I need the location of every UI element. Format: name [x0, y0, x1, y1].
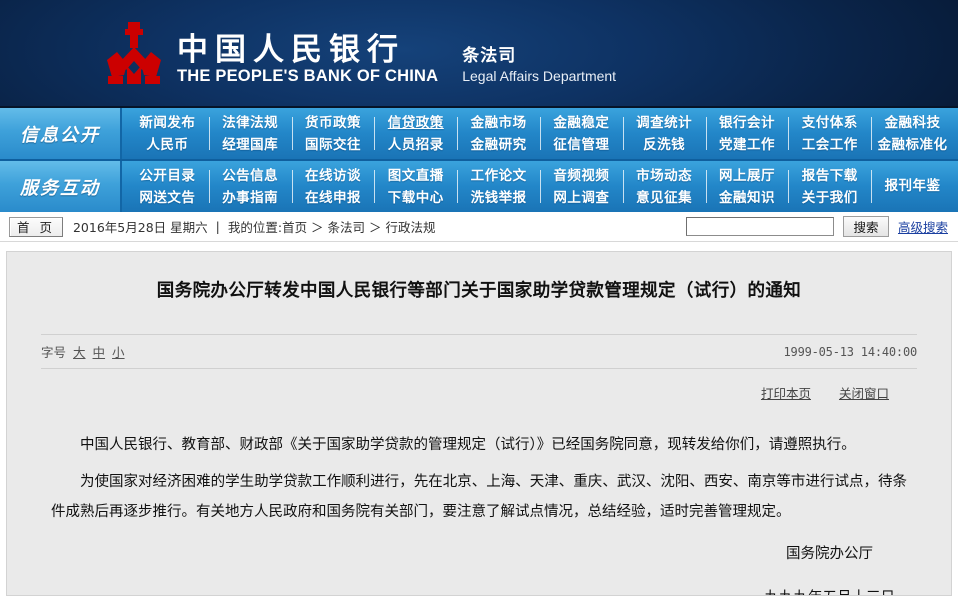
nav-item-report-download[interactable]: 报告下载	[802, 166, 858, 186]
nav-item-payment-system[interactable]: 支付体系	[802, 113, 858, 133]
nav-item-about-us[interactable]: 关于我们	[802, 188, 858, 208]
nav-columns-information-disclosure: 新闻发布 人民币 法律法规 经理国库 货币政策 国际交往 信贷政策 人员招录 金…	[122, 108, 958, 159]
font-size-small[interactable]: 小	[112, 342, 125, 361]
close-window-link[interactable]: 关闭窗口	[839, 383, 889, 402]
body-paragraph: 为使国家对经济困难的学生助学贷款工作顺利进行，先在北京、上海、天津、重庆、武汉、…	[51, 467, 907, 527]
nav-item-online-exhibition[interactable]: 网上展厅	[719, 166, 775, 186]
nav-column: 金融稳定 征信管理	[540, 108, 623, 159]
bank-wordmark: 中国人民银行 THE PEOPLE'S BANK OF CHINA	[177, 33, 438, 88]
nav-column: 银行会计 党建工作	[706, 108, 789, 159]
nav-section-label-information-disclosure[interactable]: 信息公开	[0, 108, 122, 159]
nav-item-financial-research[interactable]: 金融研究	[471, 135, 527, 155]
nav-item-party-affairs[interactable]: 党建工作	[719, 135, 775, 155]
font-size-large[interactable]: 大	[73, 342, 86, 361]
nav-item-open-directory[interactable]: 公开目录	[139, 166, 195, 186]
nav-column: 调查统计 反洗钱	[623, 108, 706, 159]
nav-item-money-laundering-report[interactable]: 洗钱举报	[471, 188, 527, 208]
department-name-cn: 条法司	[462, 45, 616, 67]
nav-column: 网上展厅 金融知识	[706, 161, 789, 212]
nav-columns-services-interaction: 公开目录 网送文告 公告信息 办事指南 在线访谈 在线申报 图文直播 下载中心 …	[122, 161, 958, 212]
search-button[interactable]: 搜索	[843, 216, 889, 237]
nav-item-online-interview[interactable]: 在线访谈	[305, 166, 361, 186]
meta-divider	[41, 368, 917, 369]
nav-item-audio-video[interactable]: 音频视频	[553, 166, 609, 186]
nav-item-service-guide[interactable]: 办事指南	[222, 188, 278, 208]
nav-column: 金融科技 金融标准化	[871, 108, 954, 159]
nav-column: 货币政策 国际交往	[292, 108, 375, 159]
font-size-controls: 字号 大 中 小	[41, 342, 125, 361]
nav-item-online-notices[interactable]: 网送文告	[139, 188, 195, 208]
font-size-medium[interactable]: 中	[93, 342, 106, 361]
content-outer: 国务院办公厅转发中国人民银行等部门关于国家助学贷款管理规定（试行）的通知 字号 …	[0, 242, 958, 596]
nav-column: 音频视频 网上调查	[540, 161, 623, 212]
nav-column: 信贷政策 人员招录	[374, 108, 457, 159]
nav-item-laws-regulations[interactable]: 法律法规	[222, 113, 278, 133]
nav-item-online-survey[interactable]: 网上调查	[553, 188, 609, 208]
search-input[interactable]	[686, 217, 834, 236]
document-panel: 国务院办公厅转发中国人民银行等部门关于国家助学贷款管理规定（试行）的通知 字号 …	[6, 251, 952, 596]
nav-item-credit-reference[interactable]: 征信管理	[553, 135, 609, 155]
bank-name-en: THE PEOPLE'S BANK OF CHINA	[177, 67, 438, 86]
nav-column: 图文直播 下载中心	[374, 161, 457, 212]
nav-item-fintech[interactable]: 金融科技	[885, 113, 941, 133]
nav-item-international-exchange[interactable]: 国际交往	[305, 135, 361, 155]
nav-column: 工作论文 洗钱举报	[457, 161, 540, 212]
nav-item-union-affairs[interactable]: 工会工作	[802, 135, 858, 155]
nav-item-live-broadcast[interactable]: 图文直播	[388, 166, 444, 186]
nav-item-financial-standardization[interactable]: 金融标准化	[878, 135, 948, 155]
nav-item-news[interactable]: 新闻发布	[139, 113, 195, 133]
body-paragraph: 中国人民银行、教育部、财政部《关于国家助学贷款的管理规定（试行）》已经国务院同意…	[51, 430, 907, 460]
breadcrumb-bar: 首 页 2016年5月28日 星期六 | 我的位置:首页 ＞ 条法司 ＞ 行政法…	[0, 212, 958, 242]
document-signature-date: 一九九九年五月十三日	[41, 583, 917, 596]
nav-item-rmb[interactable]: 人民币	[146, 135, 188, 155]
nav-item-financial-knowledge[interactable]: 金融知识	[719, 188, 775, 208]
pboc-trefoil-logo-icon	[105, 20, 163, 88]
document-tools: 打印本页 关闭窗口	[41, 383, 917, 402]
nav-item-monetary-policy[interactable]: 货币政策	[305, 113, 361, 133]
nav-item-online-application[interactable]: 在线申报	[305, 188, 361, 208]
nav-item-opinion-collection[interactable]: 意见征集	[636, 188, 692, 208]
main-navigation: 信息公开 新闻发布 人民币 法律法规 经理国库 货币政策 国际交往 信贷政策 人…	[0, 108, 958, 212]
nav-column: 法律法规 经理国库	[209, 108, 292, 159]
nav-item-treasury[interactable]: 经理国库	[222, 135, 278, 155]
nav-item-yearbook[interactable]: 报刊年鉴	[885, 176, 941, 196]
nav-row-services-interaction: 服务互动 公开目录 网送文告 公告信息 办事指南 在线访谈 在线申报 图文直播 …	[0, 161, 958, 212]
nav-item-financial-market[interactable]: 金融市场	[471, 113, 527, 133]
nav-column: 报刊年鉴	[871, 161, 954, 212]
print-page-link[interactable]: 打印本页	[761, 383, 811, 402]
nav-item-market-news[interactable]: 市场动态	[636, 166, 692, 186]
nav-column: 金融市场 金融研究	[457, 108, 540, 159]
home-button[interactable]: 首 页	[9, 217, 63, 237]
nav-row-information-disclosure: 信息公开 新闻发布 人民币 法律法规 经理国库 货币政策 国际交往 信贷政策 人…	[0, 108, 958, 161]
nav-item-announcements[interactable]: 公告信息	[222, 166, 278, 186]
nav-item-survey-statistics[interactable]: 调查统计	[636, 113, 692, 133]
site-banner: 中国人民银行 THE PEOPLE'S BANK OF CHINA 条法司 Le…	[0, 0, 958, 108]
advanced-search-link[interactable]: 高级搜索	[898, 217, 948, 236]
nav-item-working-papers[interactable]: 工作论文	[471, 166, 527, 186]
department-block: 条法司 Legal Affairs Department	[462, 45, 616, 88]
nav-item-bank-accounting[interactable]: 银行会计	[719, 113, 775, 133]
document-body: 中国人民银行、教育部、财政部《关于国家助学贷款的管理规定（试行）》已经国务院同意…	[41, 430, 917, 527]
document-signature: 国务院办公厅	[41, 539, 917, 569]
nav-item-financial-stability[interactable]: 金融稳定	[553, 113, 609, 133]
breadcrumb: 我的位置:首页 ＞ 条法司 ＞ 行政法规	[228, 217, 436, 236]
nav-column: 公告信息 办事指南	[209, 161, 292, 212]
nav-column: 在线访谈 在线申报	[292, 161, 375, 212]
nav-column: 公开目录 网送文告	[126, 161, 209, 212]
banner-content: 中国人民银行 THE PEOPLE'S BANK OF CHINA 条法司 Le…	[105, 20, 616, 88]
nav-item-download-center[interactable]: 下载中心	[388, 188, 444, 208]
search-area: 搜索 高级搜索	[686, 216, 948, 237]
publish-timestamp: 1999-05-13 14:40:00	[784, 345, 917, 359]
font-size-label: 字号	[41, 342, 66, 361]
current-date: 2016年5月28日 星期六	[73, 217, 208, 236]
nav-column: 市场动态 意见征集	[623, 161, 706, 212]
department-name-en: Legal Affairs Department	[462, 67, 616, 85]
breadcrumb-separator: |	[216, 219, 220, 234]
nav-column: 新闻发布 人民币	[126, 108, 209, 159]
bank-name-cn: 中国人民银行	[177, 33, 438, 67]
nav-item-credit-policy[interactable]: 信贷政策	[388, 113, 444, 133]
document-meta-row: 字号 大 中 小 1999-05-13 14:40:00	[41, 334, 917, 361]
nav-section-label-services-interaction[interactable]: 服务互动	[0, 161, 122, 212]
nav-column: 支付体系 工会工作	[788, 108, 871, 159]
nav-item-recruitment[interactable]: 人员招录	[388, 135, 444, 155]
nav-column: 报告下载 关于我们	[788, 161, 871, 212]
page-title: 国务院办公厅转发中国人民银行等部门关于国家助学贷款管理规定（试行）的通知	[41, 274, 917, 304]
nav-item-anti-money-laundering[interactable]: 反洗钱	[643, 135, 685, 155]
